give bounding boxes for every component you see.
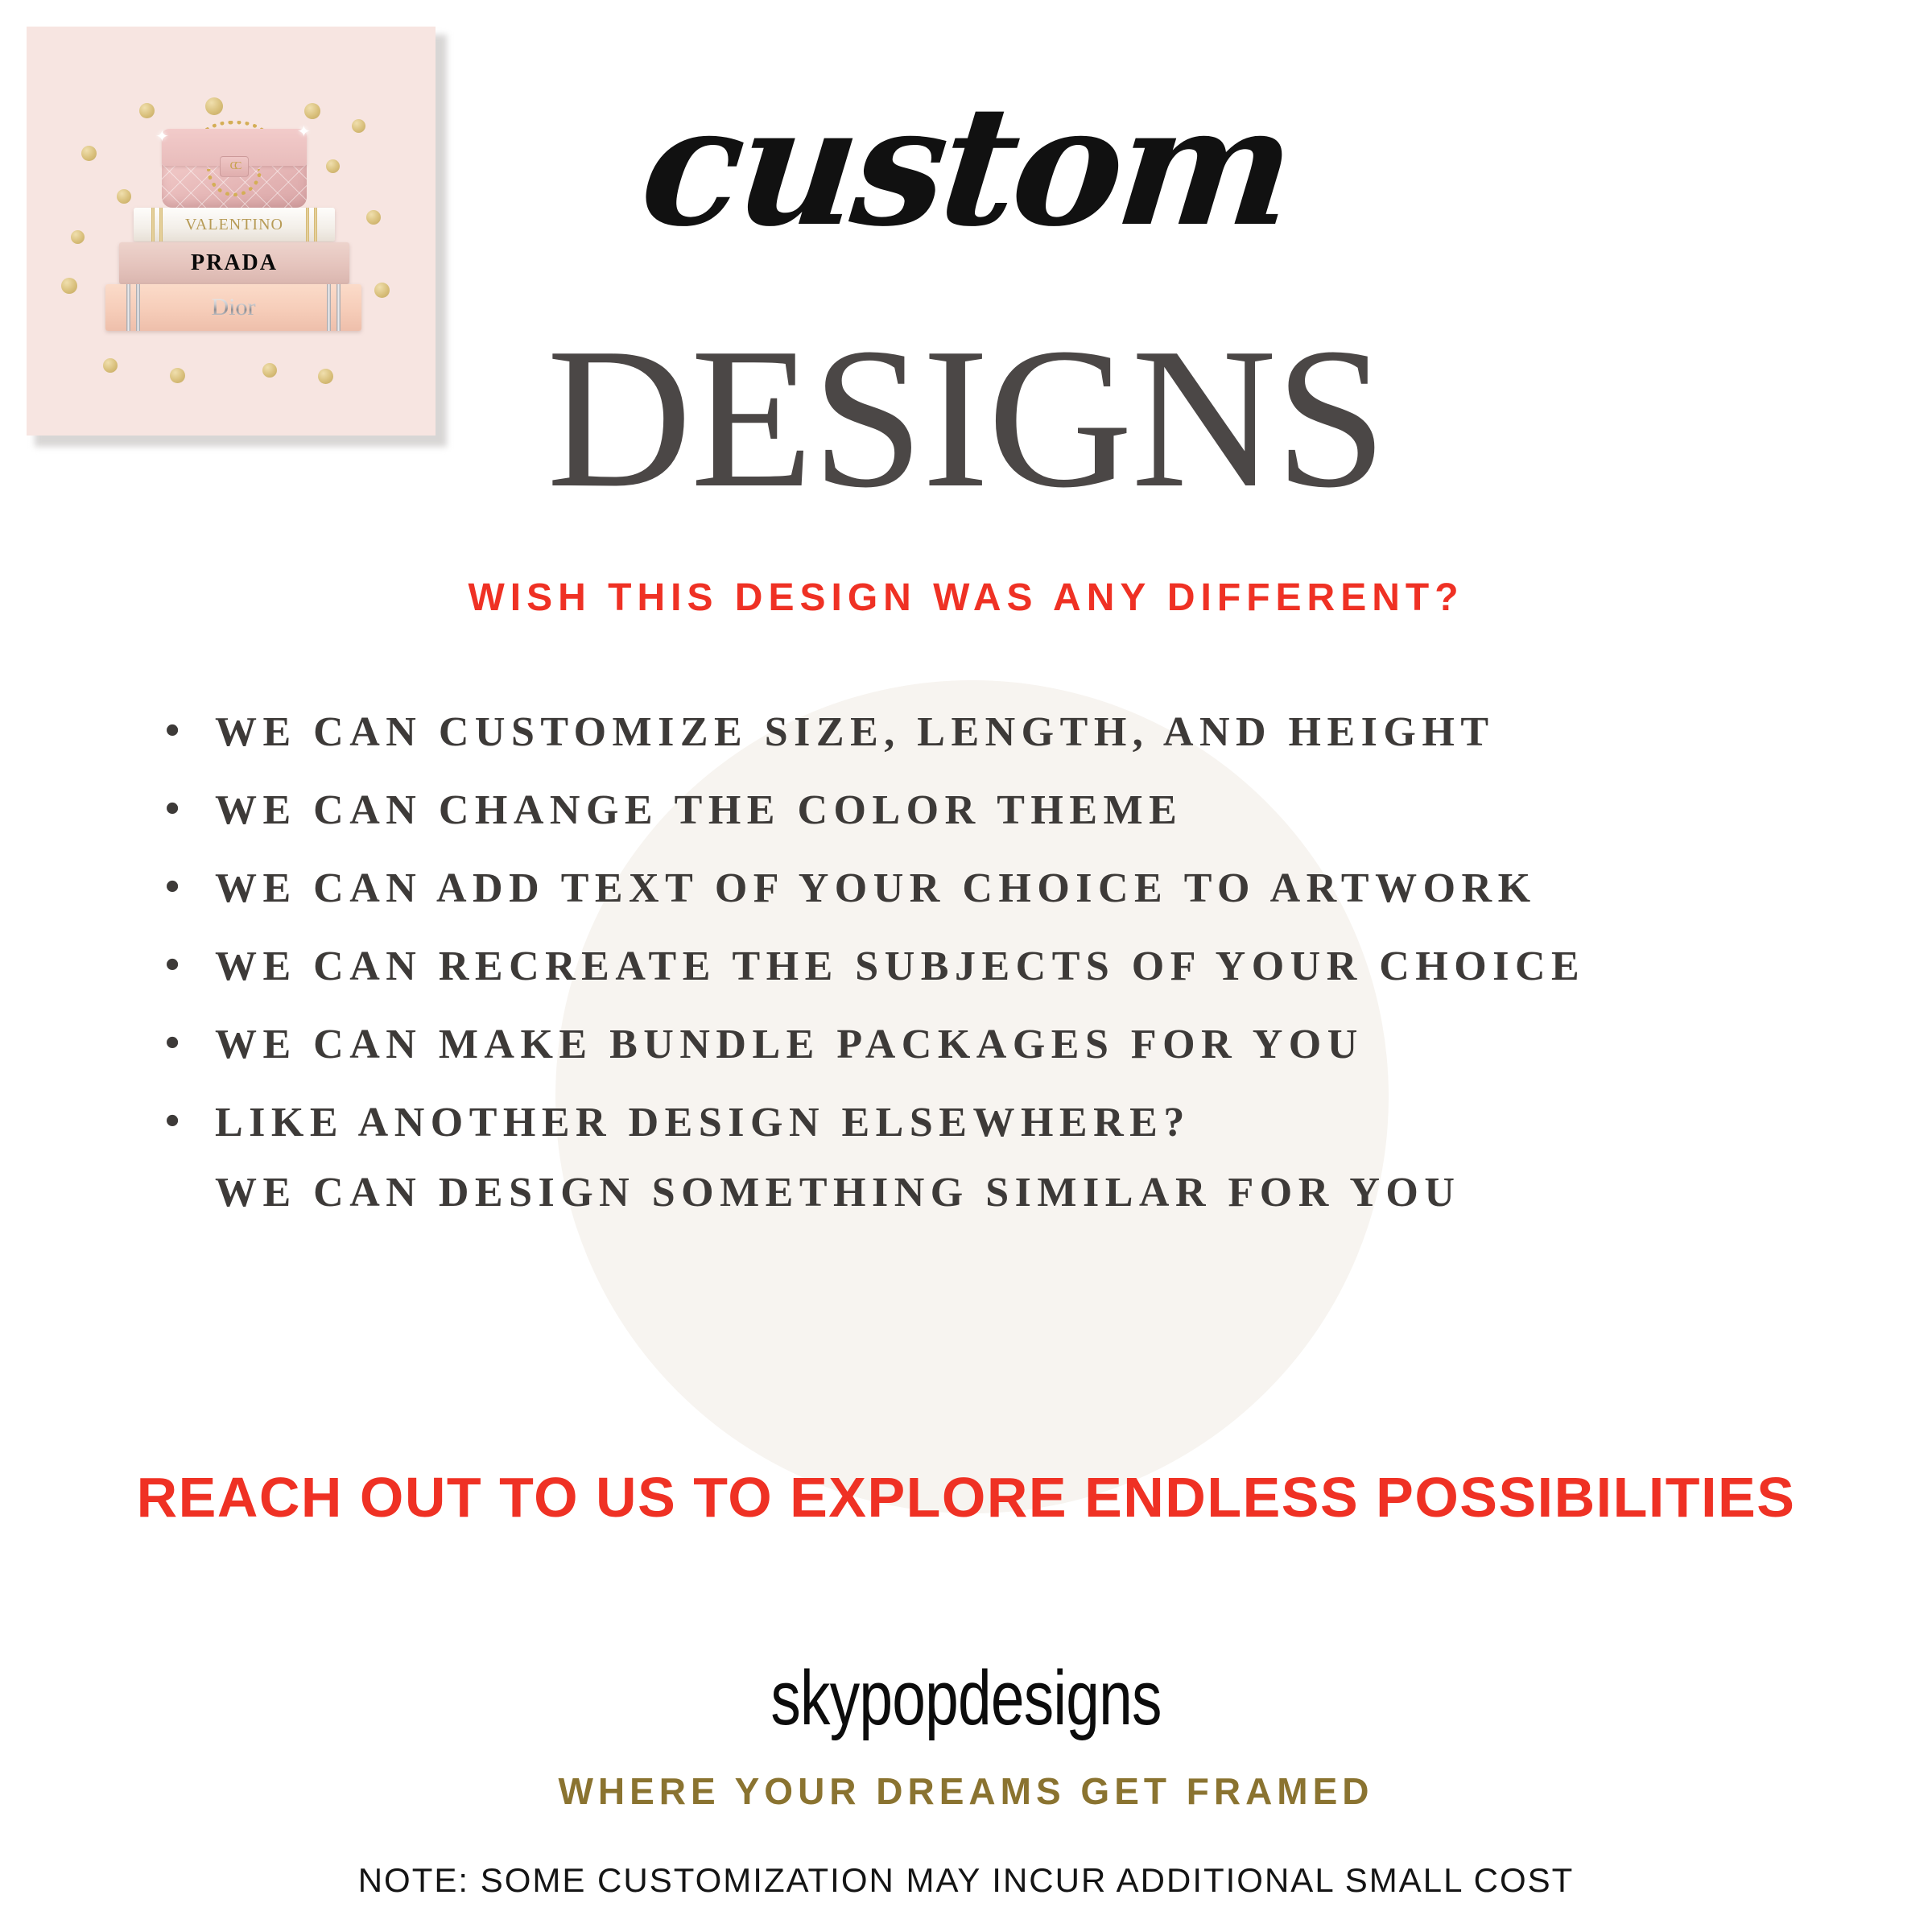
list-item: WE CAN ADD TEXT OF YOUR CHOICE TO ARTWOR… [165, 865, 1856, 912]
list-item-continuation: WE CAN DESIGN SOMETHING SIMILAR FOR YOU [165, 1169, 1856, 1216]
subtitle-question: WISH THIS DESIGN WAS ANY DIFFERENT? [0, 576, 1932, 620]
list-item: WE CAN CHANGE THE COLOR THEME [165, 786, 1856, 834]
list-item: LIKE ANOTHER DESIGN ELSEWHERE? [165, 1099, 1856, 1146]
brand-tagline: WHERE YOUR DREAMS GET FRAMED [0, 1769, 1932, 1813]
glitter-dot [374, 283, 390, 298]
call-to-action-text[interactable]: REACH OUT TO US TO EXPLORE ENDLESS POSSI… [0, 1465, 1932, 1529]
book-title: Dior [212, 294, 256, 321]
book-title: PRADA [191, 250, 278, 276]
headline-script-word: custom [0, 85, 1932, 250]
page-title: DESIGNS [0, 318, 1932, 519]
glitter-dot [61, 278, 77, 294]
list-item: WE CAN CUSTOMIZE SIZE, LENGTH, AND HEIGH… [165, 708, 1856, 756]
footnote-text: NOTE: SOME CUSTOMIZATION MAY INCUR ADDIT… [0, 1861, 1932, 1900]
list-item: WE CAN RECREATE THE SUBJECTS OF YOUR CHO… [165, 943, 1856, 990]
brand-logo-text: skypopdesigns [213, 1654, 1719, 1743]
list-item: WE CAN MAKE BUNDLE PACKAGES FOR YOU [165, 1021, 1856, 1068]
feature-list: WE CAN CUSTOMIZE SIZE, LENGTH, AND HEIGH… [165, 708, 1856, 1247]
